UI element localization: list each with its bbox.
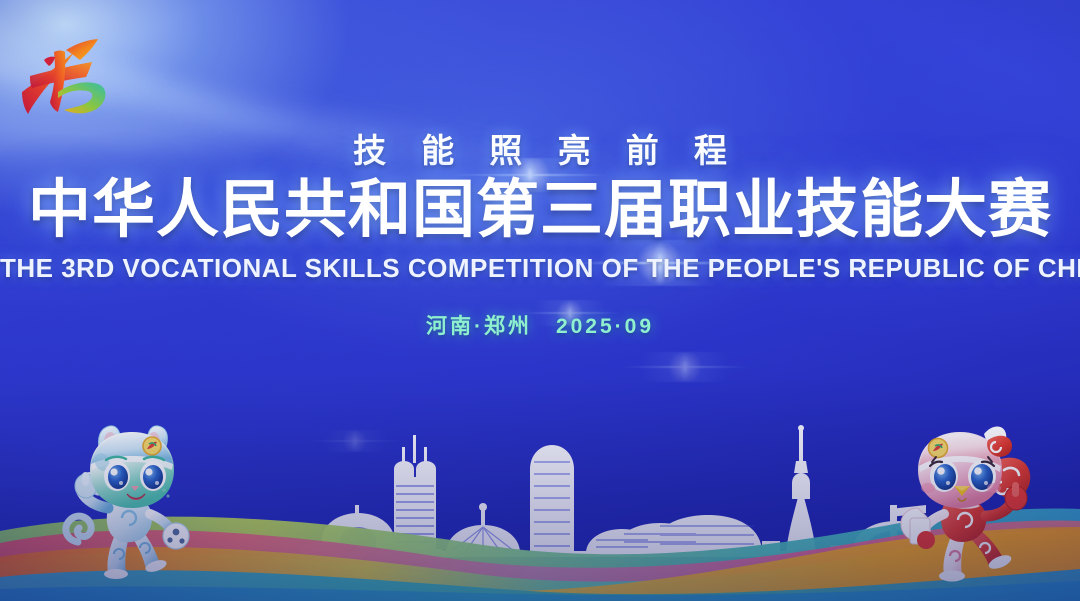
bird-mascot — [888, 412, 1034, 582]
poster-dateline: 河南·郑州2025·09 — [0, 310, 1080, 340]
cat-mascot — [60, 414, 196, 580]
competition-poster: 技 能 照 亮 前 程 中华人民共和国第三届职业技能大赛 THE 3RD VOC… — [0, 0, 1080, 601]
page-title: 中华人民共和国第三届职业技能大赛 — [0, 176, 1080, 244]
poster-tagline: 技 能 照 亮 前 程 — [0, 124, 1080, 172]
poster-subtitle-english: THE 3RD VOCATIONAL SKILLS COMPETITION OF… — [0, 253, 1080, 284]
poster-date: 2025·09 — [556, 315, 654, 338]
poster-location: 河南·郑州 — [426, 315, 532, 338]
poster-text-block: 技 能 照 亮 前 程 中华人民共和国第三届职业技能大赛 THE 3RD VOC… — [0, 0, 1080, 400]
